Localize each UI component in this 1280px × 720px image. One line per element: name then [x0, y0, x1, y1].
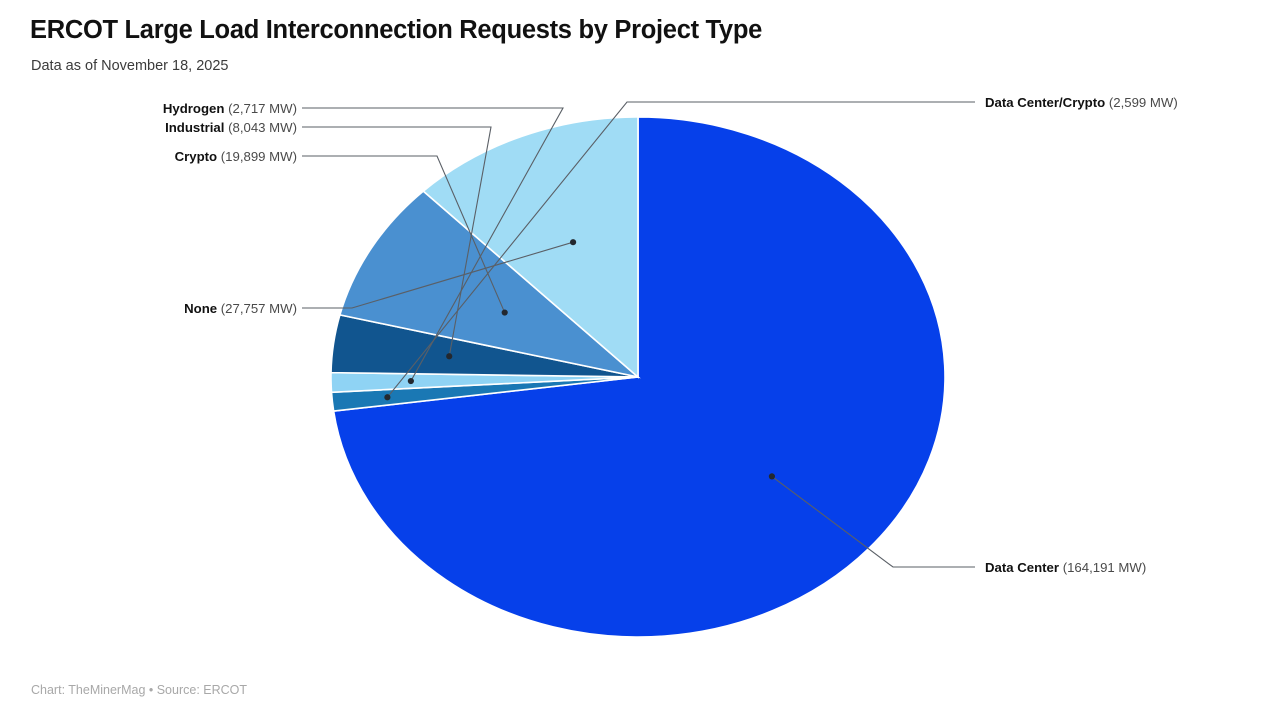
leader-dot — [446, 353, 452, 359]
pie-label-datacenter: Data Center (164,191 MW) — [985, 560, 1146, 575]
leader-dot — [502, 309, 508, 315]
pie-label-hydrogen: Hydrogen (2,717 MW) — [0, 101, 297, 116]
leader-dot — [570, 239, 576, 245]
pie-label-datacenter-name: Data Center — [985, 560, 1059, 575]
pie-label-none-value: (27,757 MW) — [221, 301, 297, 316]
pie-label-industrial-name: Industrial — [165, 120, 224, 135]
pie-label-none-name: None — [184, 301, 217, 316]
pie-label-datacenter-crypto-value: (2,599 MW) — [1109, 95, 1178, 110]
leader-dot — [384, 394, 390, 400]
leader-dot — [408, 378, 414, 384]
chart-attribution: Chart: TheMinerMag • Source: ERCOT — [31, 683, 247, 697]
leader-dot — [769, 473, 775, 479]
pie-slice-group — [331, 117, 945, 637]
pie-label-industrial-value: (8,043 MW) — [228, 120, 297, 135]
pie-label-crypto: Crypto (19,899 MW) — [0, 149, 297, 164]
pie-label-hydrogen-name: Hydrogen — [163, 101, 225, 116]
pie-label-none: None (27,757 MW) — [0, 301, 297, 316]
pie-label-hydrogen-value: (2,717 MW) — [228, 101, 297, 116]
pie-label-datacenter-crypto: Data Center/Crypto (2,599 MW) — [985, 95, 1178, 110]
pie-label-crypto-name: Crypto — [175, 149, 218, 164]
pie-label-datacenter-crypto-name: Data Center/Crypto — [985, 95, 1105, 110]
pie-label-datacenter-value: (164,191 MW) — [1063, 560, 1147, 575]
pie-label-crypto-value: (19,899 MW) — [221, 149, 297, 164]
pie-label-industrial: Industrial (8,043 MW) — [0, 120, 297, 135]
